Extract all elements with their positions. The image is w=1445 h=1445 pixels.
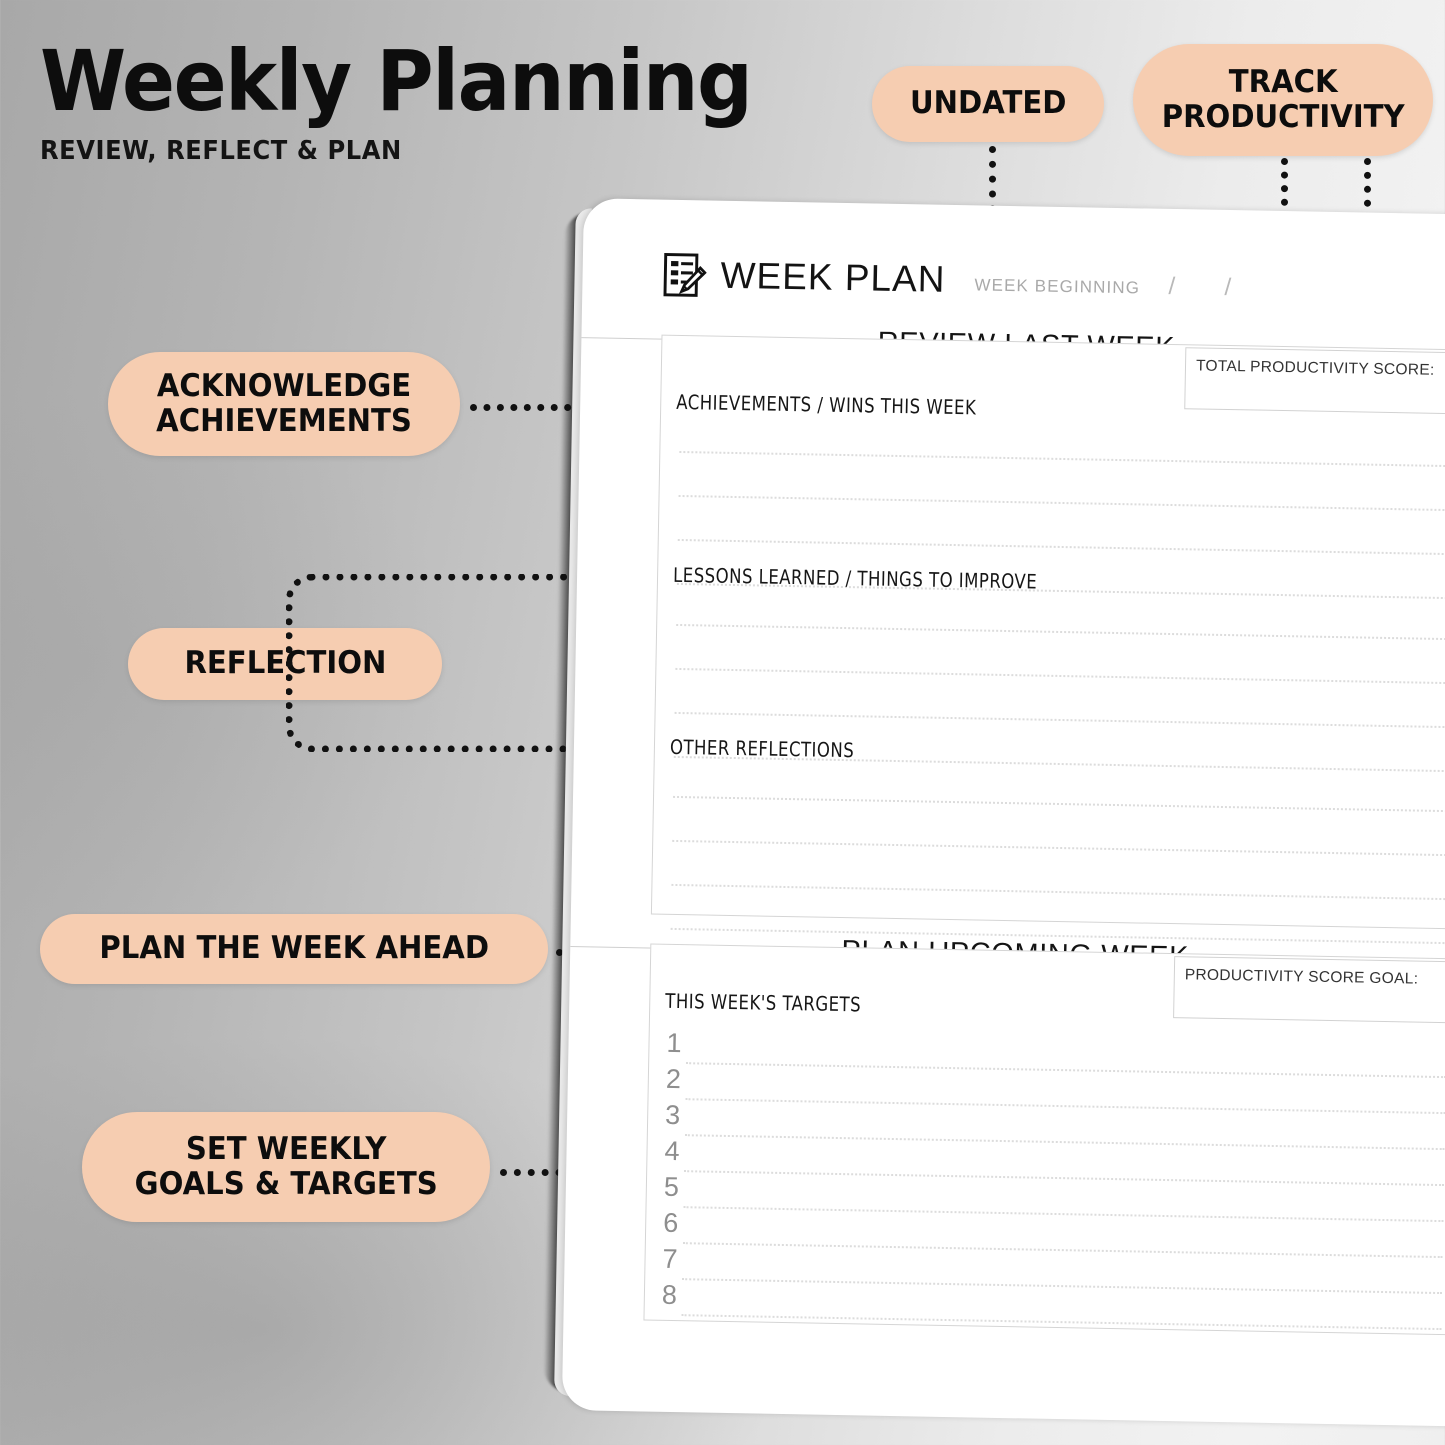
date-separator-2: / [1224, 274, 1231, 302]
callout-acknowledge-achievements: ACKNOWLEDGE ACHIEVEMENTS [108, 352, 460, 456]
callout-acknowledge-line1: ACKNOWLEDGE [156, 369, 412, 404]
target-number: 2 [666, 1064, 682, 1095]
planner-page: WEEK PLAN WEEK BEGINNING / / REVIEW LAST… [562, 198, 1445, 1426]
total-productivity-score-label: TOTAL PRODUCTIVITY SCORE: [1196, 357, 1435, 379]
field-label-other-reflections: OTHER REFLECTIONS [670, 735, 855, 762]
week-beginning-label: WEEK BEGINNING [974, 275, 1140, 298]
page-header: Weekly Planning REVIEW, REFLECT & PLAN [40, 40, 805, 166]
target-number: 7 [662, 1244, 678, 1275]
callout-goals-line2: GOALS & TARGETS [134, 1167, 437, 1202]
target-number: 3 [665, 1100, 681, 1131]
productivity-score-goal-box[interactable]: PRODUCTIVITY SCORE GOAL: [1173, 956, 1445, 1023]
target-number: 5 [664, 1172, 680, 1203]
callout-undated: UNDATED [872, 66, 1104, 142]
callout-track-productivity: TRACK PRODUCTIVITY [1133, 44, 1433, 156]
callout-track-productivity-line2: PRODUCTIVITY [1162, 100, 1405, 135]
productivity-score-goal-label: PRODUCTIVITY SCORE GOAL: [1185, 966, 1419, 988]
target-number: 4 [664, 1136, 680, 1167]
target-number: 1 [666, 1028, 682, 1059]
date-separator-1: / [1168, 273, 1175, 301]
callout-plan-label: PLAN THE WEEK AHEAD [99, 931, 489, 966]
callout-acknowledge-line2: ACHIEVEMENTS [156, 404, 412, 439]
total-productivity-score-box[interactable]: TOTAL PRODUCTIVITY SCORE: [1184, 347, 1445, 414]
notebook-device: WEEK PLAN WEEK BEGINNING / / REVIEW LAST… [552, 198, 1445, 1436]
callout-plan-the-week-ahead: PLAN THE WEEK AHEAD [40, 914, 548, 984]
planner-page-title: WEEK PLAN [720, 255, 946, 301]
page-subtitle: REVIEW, REFLECT & PLAN [40, 136, 752, 166]
field-label-targets: THIS WEEK'S TARGETS [665, 989, 861, 1017]
target-number: 8 [662, 1280, 678, 1311]
planner-header: WEEK PLAN [662, 252, 946, 303]
page-title: Weekly Planning [40, 40, 752, 122]
callout-track-productivity-line1: TRACK [1162, 65, 1405, 100]
callout-goals-line1: SET WEEKLY [134, 1132, 437, 1167]
target-number: 6 [663, 1208, 679, 1239]
callout-set-weekly-goals: SET WEEKLY GOALS & TARGETS [82, 1112, 490, 1222]
clipboard-pencil-icon [662, 252, 707, 299]
callout-undated-label: UNDATED [910, 86, 1067, 121]
